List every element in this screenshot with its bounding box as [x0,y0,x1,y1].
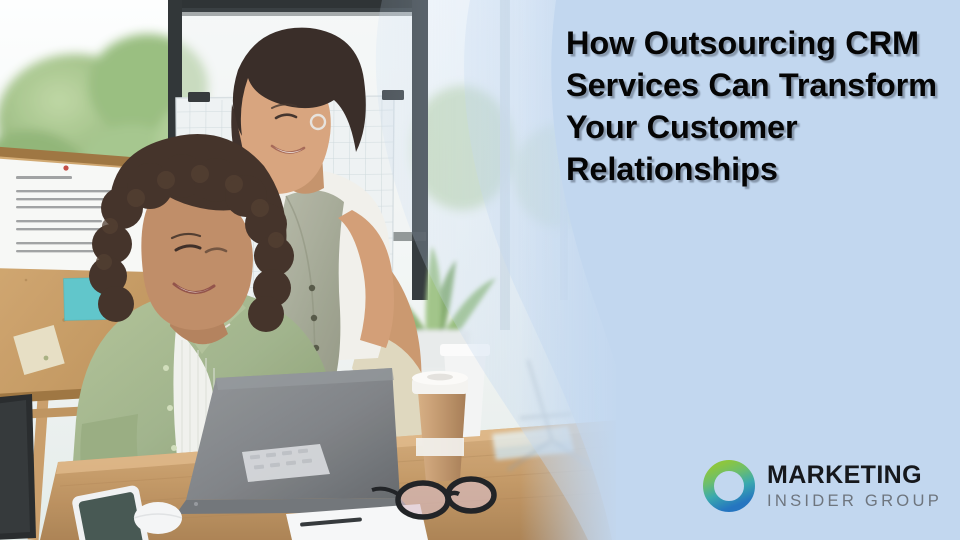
office-scene-illustration [0,0,620,540]
logo-wordmark: MARKETING INSIDER GROUP [767,463,942,510]
brand-logo[interactable]: MARKETING INSIDER GROUP [702,459,942,513]
logo-primary-text: MARKETING [767,463,942,488]
hero-banner: How Outsourcing CRM Services Can Transfo… [0,0,960,540]
page-title: How Outsourcing CRM Services Can Transfo… [566,22,946,190]
marketing-insider-group-ring-icon [702,459,756,513]
hero-photo [0,0,620,540]
logo-secondary-text: INSIDER GROUP [767,493,942,510]
